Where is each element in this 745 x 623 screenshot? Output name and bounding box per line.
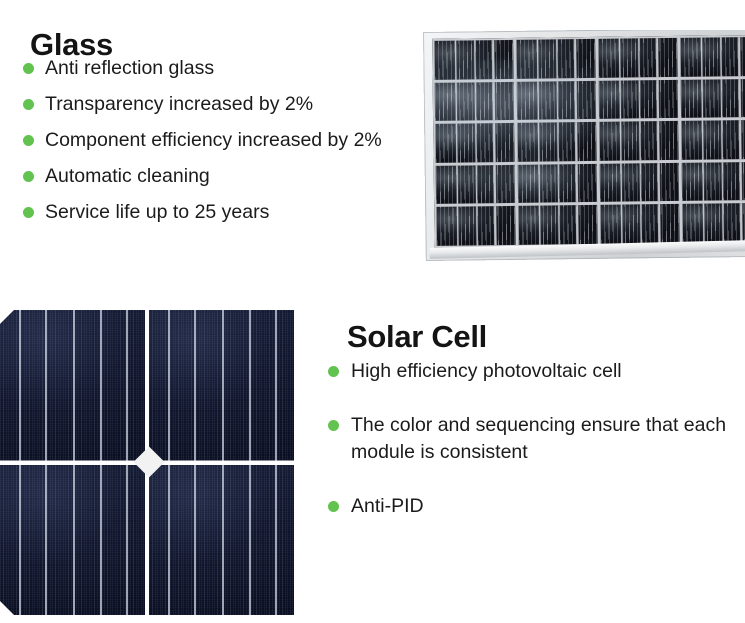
- module-cell: [599, 121, 678, 161]
- cell-busbar: [45, 465, 47, 616]
- closeup-solar-cell: [149, 310, 294, 461]
- cell-busbar: [73, 465, 75, 616]
- list-item: Automatic cleaning: [18, 163, 418, 190]
- page-canvas: Glass Anti reflection glass Transparency…: [0, 0, 745, 623]
- cell-busbar: [702, 120, 704, 160]
- cell-busbar: [639, 163, 641, 203]
- cell-busbar: [638, 38, 640, 78]
- closeup-solar-cell: [0, 465, 145, 616]
- cell-busbar: [577, 205, 579, 245]
- cell-busbar: [100, 310, 102, 461]
- cell-busbar: [575, 80, 577, 120]
- module-cell: [681, 120, 745, 160]
- cell-busbar: [455, 81, 457, 121]
- cell-busbar: [574, 39, 576, 79]
- cell-busbar: [557, 164, 559, 204]
- cell-busbar: [457, 206, 459, 246]
- module-cell: [436, 165, 515, 205]
- cell-busbar: [659, 204, 661, 244]
- module-laminate: [432, 35, 745, 248]
- cell-busbar: [275, 310, 277, 461]
- cell-busbar: [740, 162, 742, 202]
- cell-busbar: [168, 310, 170, 461]
- cell-busbar: [556, 80, 558, 120]
- cell-busbar: [557, 122, 559, 162]
- cell-busbar: [620, 121, 622, 161]
- module-cell: [600, 163, 679, 203]
- cell-busbar: [720, 37, 722, 77]
- cell-busbar: [702, 162, 704, 202]
- closeup-solar-cell: [0, 310, 145, 461]
- cell-busbar: [640, 204, 642, 244]
- cell-busbar: [456, 123, 458, 163]
- cell-busbar: [249, 310, 251, 461]
- module-cell: [681, 78, 745, 118]
- cell-busbar: [168, 465, 170, 616]
- cell-busbar: [222, 465, 224, 616]
- cell-busbar: [539, 205, 541, 245]
- list-item-label: Component efficiency increased by 2%: [45, 129, 382, 151]
- cell-busbar: [701, 78, 703, 118]
- cell-busbar: [739, 120, 741, 160]
- module-cell: [598, 38, 677, 78]
- list-item: Component efficiency increased by 2%: [18, 127, 418, 154]
- list-item: Anti reflection glass: [18, 55, 418, 82]
- list-item-label: Anti reflection glass: [45, 57, 214, 79]
- cell-busbar: [538, 164, 540, 204]
- cell-busbar: [493, 81, 495, 121]
- cell-busbar: [739, 78, 741, 118]
- cell-busbar: [194, 465, 196, 616]
- cell-busbar: [475, 165, 477, 205]
- module-cell: [516, 39, 595, 79]
- module-cell: [436, 206, 515, 246]
- cell-busbar: [126, 465, 128, 616]
- bullet-dot-icon: [23, 63, 34, 74]
- cell-busbar: [738, 37, 740, 77]
- module-cell: [682, 162, 745, 202]
- cell-busbar: [537, 80, 539, 120]
- cell-busbar: [701, 37, 703, 77]
- cell-busbar: [619, 38, 621, 78]
- module-cell: [517, 80, 596, 120]
- module-cell: [600, 204, 679, 244]
- cell-busbar: [19, 465, 21, 616]
- module-cell: [517, 122, 596, 162]
- cell-busbar: [494, 165, 496, 205]
- list-item-label: Automatic cleaning: [45, 165, 210, 187]
- list-item-label: Service life up to 25 years: [45, 201, 269, 223]
- cell-busbar: [222, 310, 224, 461]
- glass-feature-list: Anti reflection glass Transparency incre…: [18, 55, 418, 235]
- bullet-dot-icon: [328, 366, 339, 377]
- module-cell: [682, 203, 745, 243]
- cell-busbar: [575, 122, 577, 162]
- cell-busbar: [474, 40, 476, 80]
- list-item: High efficiency photovoltaic cell: [320, 358, 740, 385]
- cell-busbar: [45, 310, 47, 461]
- list-item: Service life up to 25 years: [18, 199, 418, 226]
- list-item-label: Anti-PID: [351, 495, 424, 517]
- module-cell: [599, 79, 678, 119]
- cell-busbar: [494, 123, 496, 163]
- cell-busbar: [703, 203, 705, 243]
- cell-busbar: [722, 203, 724, 243]
- module-cell: [434, 40, 513, 80]
- cell-busbar: [657, 79, 659, 119]
- solar-cell-section-heading: Solar Cell: [347, 321, 487, 352]
- module-cell-matrix: [432, 35, 745, 248]
- cell-busbar: [19, 310, 21, 461]
- cell-busbar: [476, 206, 478, 246]
- bullet-dot-icon: [23, 99, 34, 110]
- cell-busbar: [619, 79, 621, 119]
- cell-busbar: [126, 310, 128, 461]
- cell-busbar: [621, 204, 623, 244]
- cell-busbar: [657, 121, 659, 161]
- cell-busbar: [537, 39, 539, 79]
- cell-busbar: [73, 310, 75, 461]
- cell-busbar: [474, 81, 476, 121]
- solar-cell-feature-list: High efficiency photovoltaic cell The co…: [320, 358, 740, 520]
- module-cell: [518, 205, 597, 245]
- cell-busbar: [576, 164, 578, 204]
- list-item: Transparency increased by 2%: [18, 91, 418, 118]
- closeup-solar-cell: [149, 465, 294, 616]
- list-item-label: High efficiency photovoltaic cell: [351, 360, 622, 382]
- module-aluminium-frame: [423, 30, 745, 261]
- cell-busbar: [740, 203, 742, 243]
- solar-cell-closeup-photo: [0, 310, 294, 615]
- cell-busbar: [475, 123, 477, 163]
- solar-module-photo: [421, 30, 745, 261]
- cell-busbar: [249, 465, 251, 616]
- bullet-dot-icon: [23, 135, 34, 146]
- cell-busbar: [100, 465, 102, 616]
- list-item-label: Transparency increased by 2%: [45, 93, 313, 115]
- cell-busbar: [538, 122, 540, 162]
- cell-busbar: [639, 121, 641, 161]
- cell-busbar: [495, 206, 497, 246]
- cell-busbar: [658, 163, 660, 203]
- cell-busbar: [721, 120, 723, 160]
- module-cell: [435, 81, 514, 121]
- list-item: The color and sequencing ensure that eac…: [320, 412, 740, 466]
- bullet-dot-icon: [23, 207, 34, 218]
- module-cell: [680, 37, 745, 77]
- list-item-label: The color and sequencing ensure that eac…: [351, 414, 726, 463]
- cell-busbar: [275, 465, 277, 616]
- bullet-dot-icon: [23, 171, 34, 182]
- module-cell: [435, 123, 514, 163]
- cell-busbar: [455, 40, 457, 80]
- cell-busbar: [720, 78, 722, 118]
- bullet-dot-icon: [328, 420, 339, 431]
- list-item: Anti-PID: [320, 493, 740, 520]
- bullet-dot-icon: [328, 501, 339, 512]
- cell-busbar: [456, 165, 458, 205]
- cell-busbar: [638, 79, 640, 119]
- cell-busbar: [656, 38, 658, 78]
- cell-busbar: [721, 162, 723, 202]
- cell-busbar: [194, 310, 196, 461]
- cell-busbar: [620, 163, 622, 203]
- module-cell: [518, 164, 597, 204]
- cell-busbar: [558, 205, 560, 245]
- cell-busbar: [556, 39, 558, 79]
- cell-busbar: [492, 40, 494, 80]
